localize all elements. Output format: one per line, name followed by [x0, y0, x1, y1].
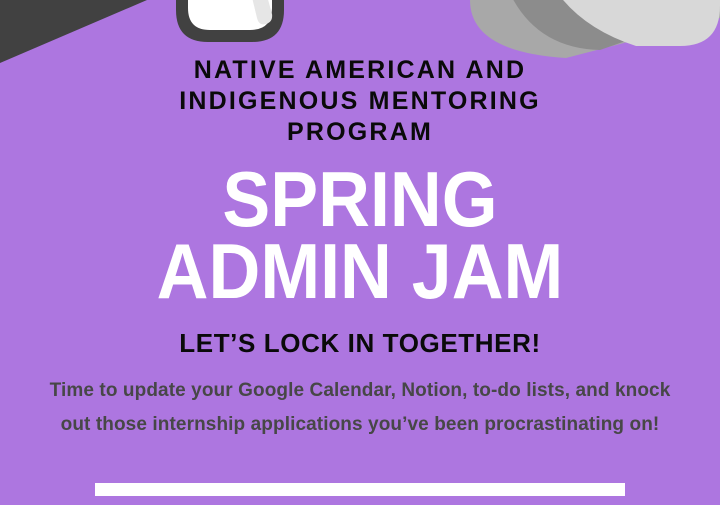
event-description: Time to update your Google Calendar, Not…	[36, 374, 684, 442]
flyer-content: NATIVE AMERICAN AND INDIGENOUS MENTORING…	[0, 0, 720, 505]
program-name-heading: NATIVE AMERICAN AND INDIGENOUS MENTORING…	[0, 55, 720, 148]
flyer-canvas: NATIVE AMERICAN AND INDIGENOUS MENTORING…	[0, 0, 720, 505]
event-tagline: LET’S LOCK IN TOGETHER!	[0, 327, 720, 359]
event-title-heading: SPRING ADMIN JAM	[29, 163, 691, 307]
white-divider-bar	[95, 483, 625, 496]
